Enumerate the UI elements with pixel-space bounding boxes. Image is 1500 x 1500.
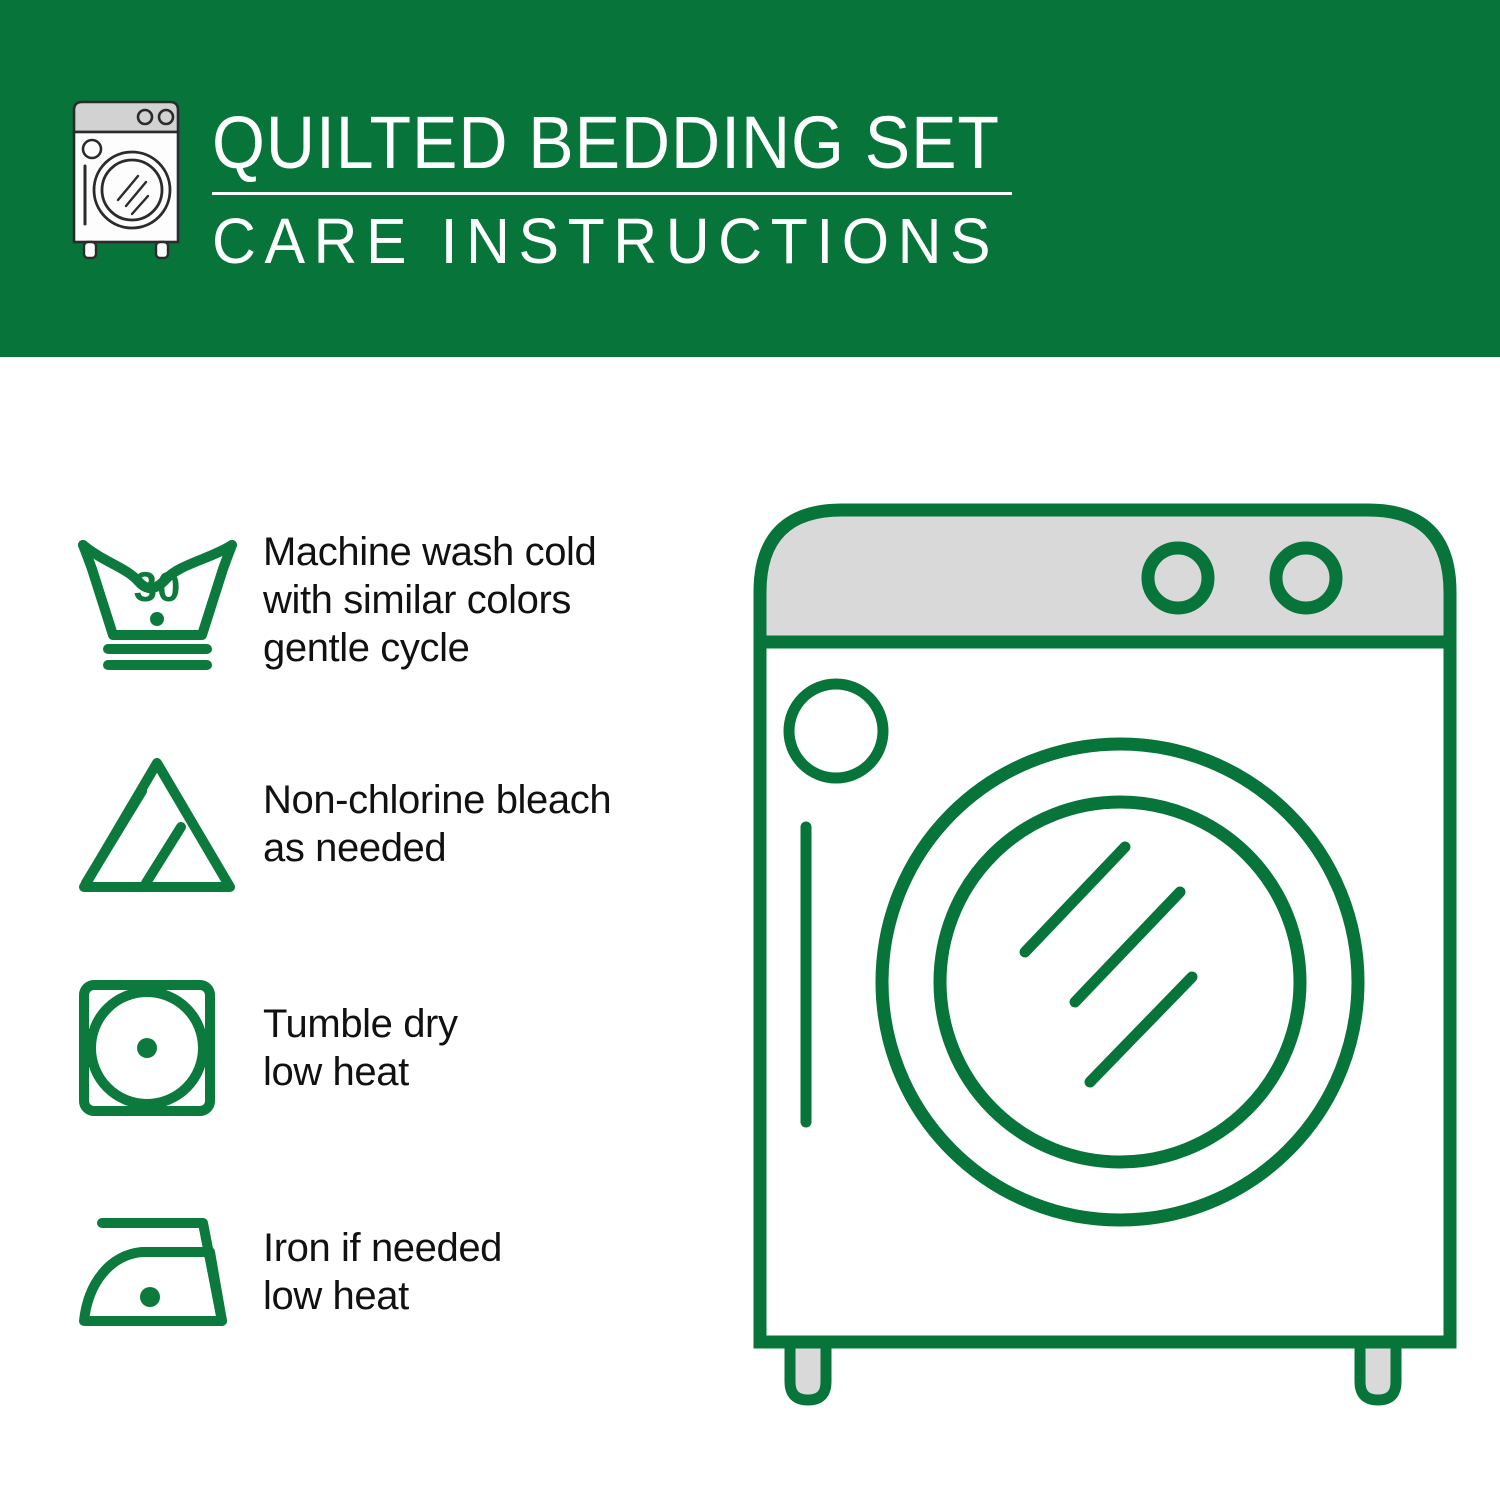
header-banner: QUILTED BEDDING SET CARE INSTRUCTIONS: [0, 0, 1500, 357]
title-divider: [212, 192, 1012, 195]
wash-temperature-label: 30: [134, 563, 181, 610]
iron-low-heat-icon: [70, 1192, 245, 1352]
care-row-bleach: Non-chlorine bleach as needed: [70, 731, 710, 917]
tumble-dry-low-heat-icon: [70, 968, 245, 1128]
non-chlorine-bleach-triangle-icon: [70, 744, 245, 904]
machine-legs: [790, 1342, 1396, 1400]
care-row-machine-wash: 30 Machine wash cold with similar colors…: [70, 507, 710, 693]
care-instruction-list: 30 Machine wash cold with similar colors…: [70, 507, 710, 1403]
washing-machine-illustration: [740, 482, 1470, 1412]
care-text-iron: Iron if needed low heat: [263, 1224, 502, 1320]
care-row-tumble-dry: Tumble dry low heat: [70, 955, 710, 1141]
washing-machine-icon: [60, 96, 200, 264]
wash-tub-30-gentle-icon: 30: [70, 520, 245, 680]
header-title-block: QUILTED BEDDING SET CARE INSTRUCTIONS: [212, 96, 1068, 275]
header-content: QUILTED BEDDING SET CARE INSTRUCTIONS: [60, 96, 1068, 275]
care-text-tumble-dry: Tumble dry low heat: [263, 1000, 458, 1096]
page-subtitle: CARE INSTRUCTIONS: [212, 207, 1026, 275]
care-text-machine-wash: Machine wash cold with similar colors ge…: [263, 528, 596, 672]
care-row-iron: Iron if needed low heat: [70, 1179, 710, 1365]
content-area: 30 Machine wash cold with similar colors…: [0, 357, 1500, 1500]
page-title: QUILTED BEDDING SET: [212, 104, 1000, 182]
care-text-bleach: Non-chlorine bleach as needed: [263, 776, 611, 872]
